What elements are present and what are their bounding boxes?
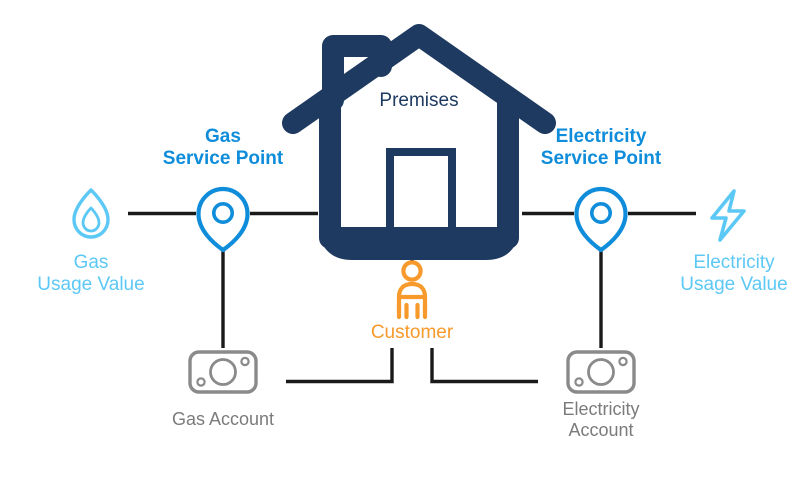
gas-service-point-label: Gas Service Point bbox=[143, 126, 303, 171]
person-icon bbox=[399, 262, 425, 317]
map-pin-icon-gas[interactable] bbox=[199, 189, 248, 250]
connector-gasaccount-customer bbox=[286, 348, 392, 382]
electricity-service-point-label: Electricity Service Point bbox=[521, 126, 681, 171]
diagram-canvas: Premises Gas Service Point Electricity S… bbox=[0, 0, 805, 480]
banknote-icon-gas bbox=[190, 352, 256, 392]
gas-usage-value-label: Gas Usage Value bbox=[11, 252, 171, 297]
flame-icon bbox=[74, 190, 108, 237]
electricity-usage-value-label: Electricity Usage Value bbox=[654, 252, 805, 297]
map-pin-icon-electricity[interactable] bbox=[577, 189, 626, 250]
gas-account-label: Gas Account bbox=[143, 409, 303, 430]
banknote-icon-electricity bbox=[568, 352, 634, 392]
premises-label: Premises bbox=[339, 90, 499, 112]
customer-label: Customer bbox=[332, 322, 492, 344]
house-icon bbox=[293, 35, 545, 249]
lightning-bolt-icon bbox=[712, 191, 744, 240]
connector-elecaccount-customer bbox=[432, 348, 538, 382]
diagram-graphics bbox=[0, 0, 805, 480]
electricity-account-label: Electricity Account bbox=[521, 399, 681, 441]
